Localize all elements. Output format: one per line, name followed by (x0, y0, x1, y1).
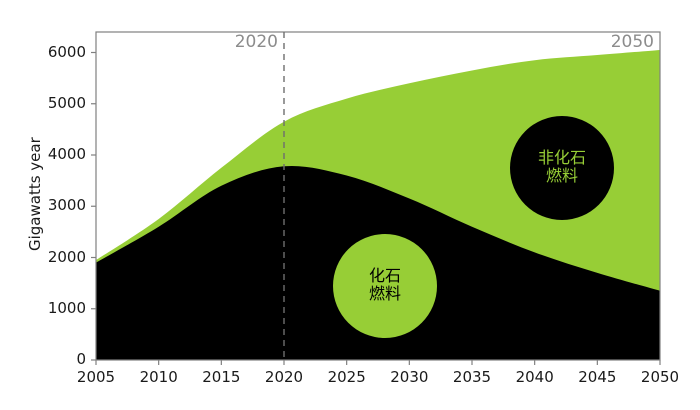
non-fossil-fuel-bubble-text-line: 燃料 (510, 167, 614, 185)
chart-container: Gigawatts year 0100020003000400050006000… (0, 0, 700, 410)
end-year-label: 2050 (568, 32, 654, 52)
y-tick-label: 0 (0, 350, 86, 368)
divider-year-label: 2020 (192, 32, 278, 52)
y-tick-label: 4000 (0, 145, 86, 163)
y-tick-label: 6000 (0, 43, 86, 61)
y-tick-label: 5000 (0, 94, 86, 112)
y-tick-label: 3000 (0, 196, 86, 214)
plot-area (0, 0, 700, 410)
fossil-fuel-bubble-text-line: 化石 (333, 267, 437, 285)
x-tick-label: 2050 (620, 368, 700, 386)
non-fossil-fuel-bubble-text: 非化石燃料 (510, 149, 614, 185)
y-tick-label: 2000 (0, 248, 86, 266)
y-tick-label: 1000 (0, 299, 86, 317)
fossil-fuel-bubble-text: 化石燃料 (333, 267, 437, 303)
fossil-fuel-bubble-text-line: 燃料 (333, 285, 437, 303)
non-fossil-fuel-bubble-text-line: 非化石 (510, 149, 614, 167)
